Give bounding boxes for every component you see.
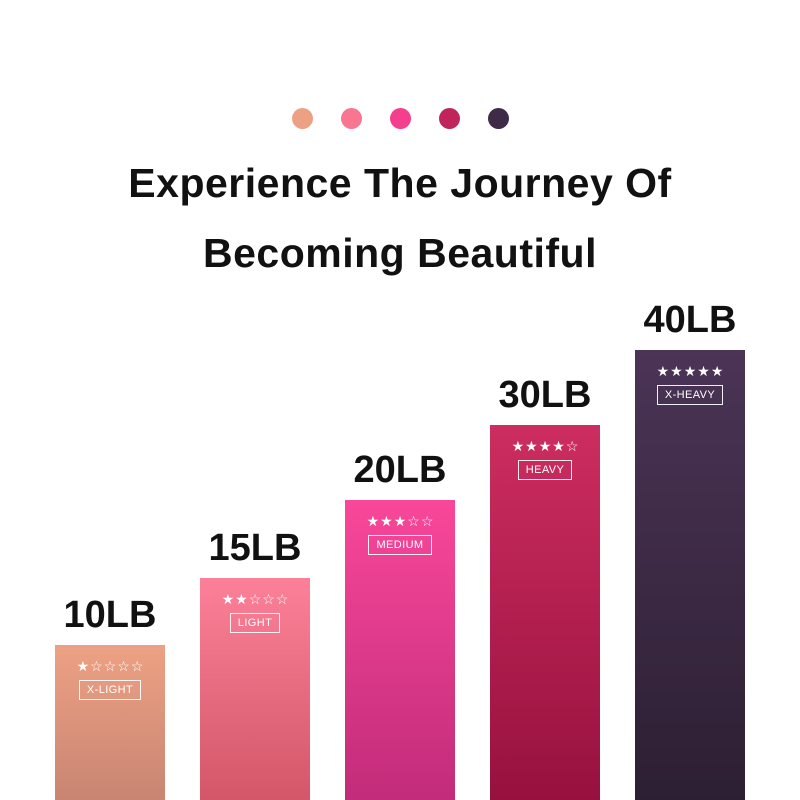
- star-filled-icon: ★: [512, 439, 525, 454]
- bar-rect[interactable]: ★★★★☆HEAVY: [490, 425, 600, 800]
- bar-group[interactable]: 15LB★★☆☆☆LIGHT: [200, 578, 310, 800]
- tier-label: MEDIUM: [368, 535, 431, 555]
- star-empty-icon: ☆: [276, 592, 289, 607]
- bar-badge: ★★☆☆☆LIGHT: [200, 592, 310, 633]
- star-filled-icon: ★: [367, 514, 380, 529]
- star-empty-icon: ☆: [131, 659, 144, 674]
- bar-group[interactable]: 40LB★★★★★X-HEAVY: [635, 350, 745, 800]
- tier-label: LIGHT: [230, 613, 280, 633]
- star-filled-icon: ★: [380, 514, 393, 529]
- star-empty-icon: ☆: [566, 439, 579, 454]
- star-rating: ★☆☆☆☆: [77, 659, 144, 674]
- infographic-canvas: Experience The Journey Of Becoming Beaut…: [0, 0, 800, 800]
- bar-group[interactable]: 20LB★★★☆☆MEDIUM: [345, 500, 455, 800]
- star-filled-icon: ★: [657, 364, 670, 379]
- bar-weight-label: 40LB: [635, 299, 745, 350]
- bar-badge: ★★★★★X-HEAVY: [635, 364, 745, 405]
- bar-weight-label: 30LB: [490, 374, 600, 425]
- star-rating: ★★☆☆☆: [222, 592, 289, 607]
- star-empty-icon: ☆: [421, 514, 434, 529]
- bar-rect[interactable]: ★★★☆☆MEDIUM: [345, 500, 455, 800]
- star-rating: ★★★★☆: [512, 439, 579, 454]
- bar-badge: ★★★☆☆MEDIUM: [345, 514, 455, 555]
- star-empty-icon: ☆: [104, 659, 117, 674]
- bar-weight-label: 10LB: [55, 594, 165, 645]
- star-filled-icon: ★: [525, 439, 538, 454]
- star-filled-icon: ★: [684, 364, 697, 379]
- star-filled-icon: ★: [235, 592, 248, 607]
- star-filled-icon: ★: [711, 364, 724, 379]
- star-filled-icon: ★: [77, 659, 90, 674]
- star-empty-icon: ☆: [117, 659, 130, 674]
- bar-rect[interactable]: ★★★★★X-HEAVY: [635, 350, 745, 800]
- star-filled-icon: ★: [697, 364, 710, 379]
- star-filled-icon: ★: [394, 514, 407, 529]
- star-empty-icon: ☆: [262, 592, 275, 607]
- bar-group[interactable]: 10LB★☆☆☆☆X-LIGHT: [55, 645, 165, 800]
- tier-label: X-LIGHT: [79, 680, 141, 700]
- bar-badge: ★★★★☆HEAVY: [490, 439, 600, 480]
- star-rating: ★★★★★: [657, 364, 724, 379]
- tier-label: X-HEAVY: [657, 385, 723, 405]
- bar-weight-label: 15LB: [200, 527, 310, 578]
- star-filled-icon: ★: [552, 439, 565, 454]
- star-filled-icon: ★: [670, 364, 683, 379]
- star-empty-icon: ☆: [249, 592, 262, 607]
- bar-weight-label: 20LB: [345, 449, 455, 500]
- bar-rect[interactable]: ★☆☆☆☆X-LIGHT: [55, 645, 165, 800]
- star-empty-icon: ☆: [407, 514, 420, 529]
- star-rating: ★★★☆☆: [367, 514, 434, 529]
- star-filled-icon: ★: [222, 592, 235, 607]
- resistance-band-bar-chart: 10LB★☆☆☆☆X-LIGHT15LB★★☆☆☆LIGHT20LB★★★☆☆M…: [0, 0, 800, 800]
- star-filled-icon: ★: [539, 439, 552, 454]
- bar-badge: ★☆☆☆☆X-LIGHT: [55, 659, 165, 700]
- star-empty-icon: ☆: [90, 659, 103, 674]
- tier-label: HEAVY: [518, 460, 572, 480]
- bar-group[interactable]: 30LB★★★★☆HEAVY: [490, 425, 600, 800]
- bar-rect[interactable]: ★★☆☆☆LIGHT: [200, 578, 310, 800]
